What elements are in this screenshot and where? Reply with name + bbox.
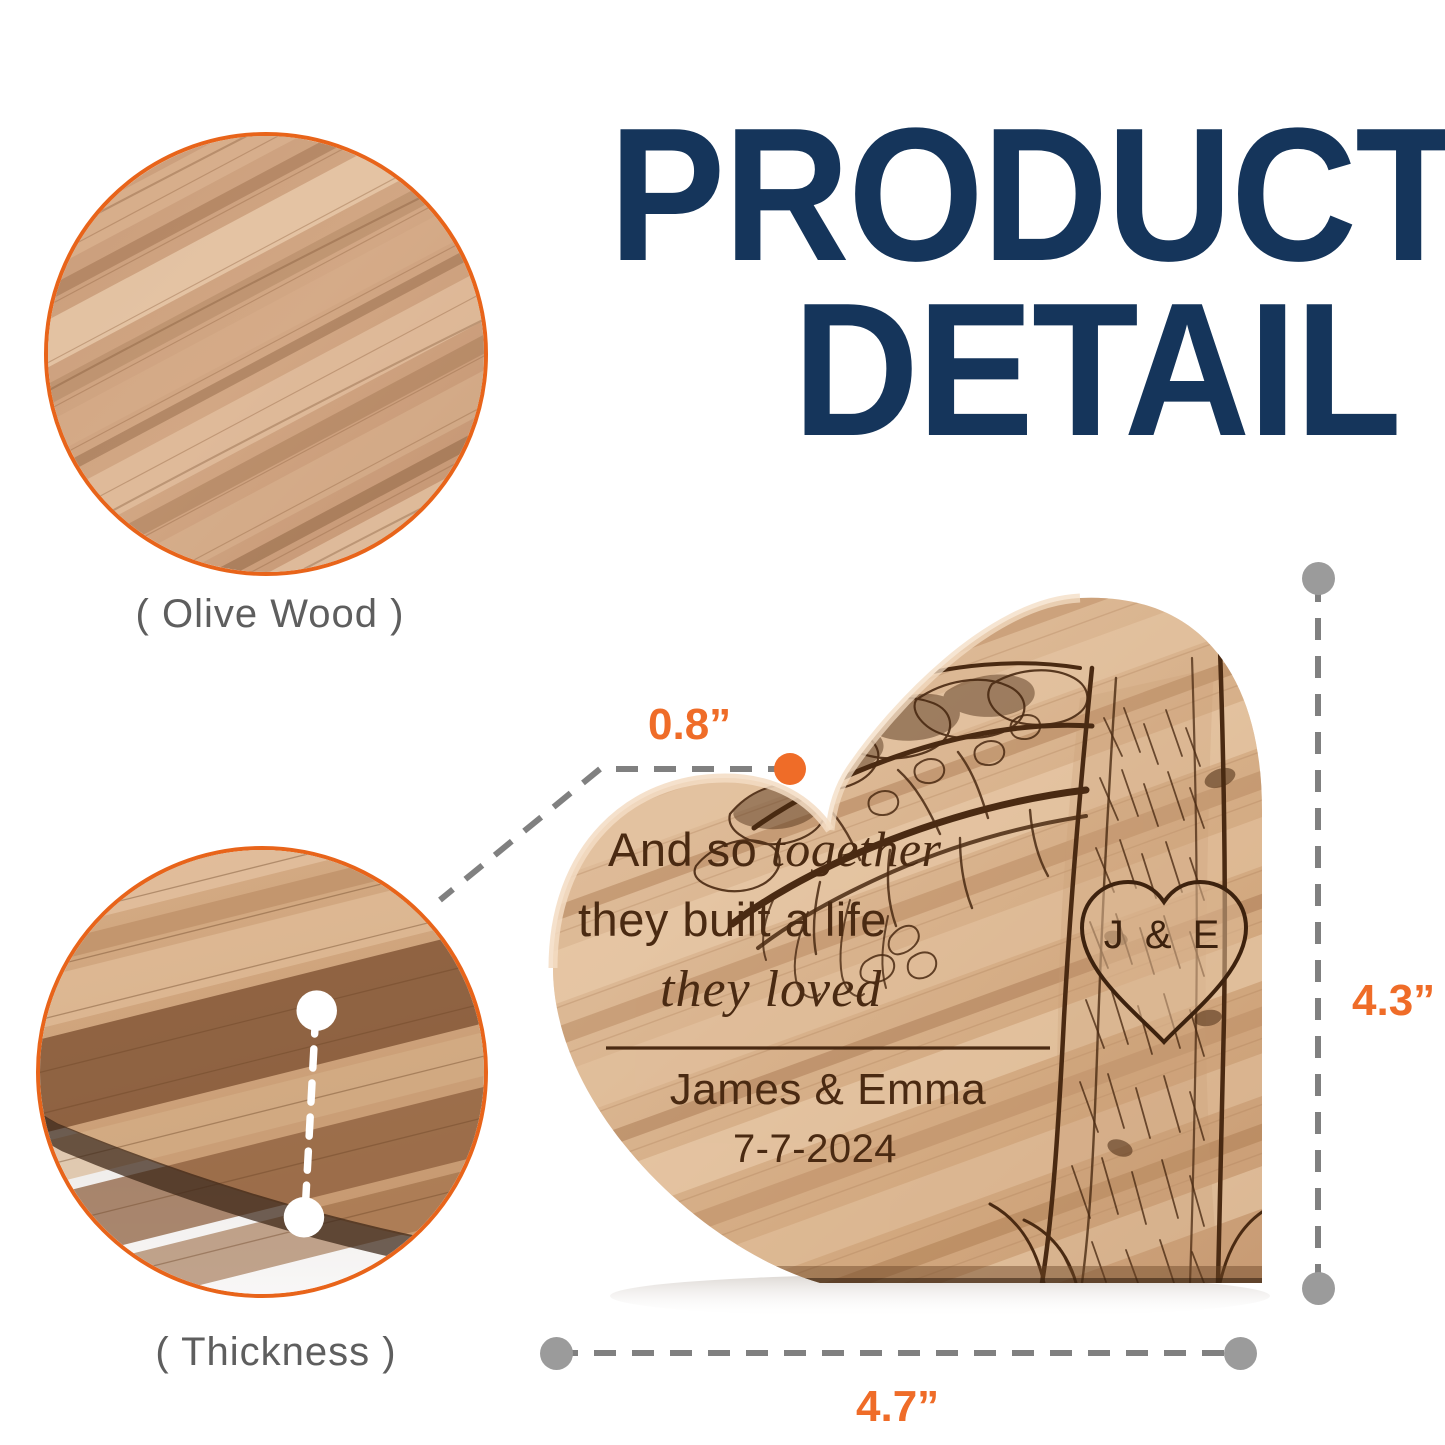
thickness-caption: ( Thickness ) [36, 1330, 516, 1375]
height-dimension-label: 4.3” [1352, 976, 1435, 1026]
wood-grain-icon [44, 132, 488, 576]
heart-plaque-illustration: J & E And so together they built a life … [520, 548, 1320, 1338]
quote-line-3: they loved [660, 961, 882, 1018]
width-endpoint-dot-right [1224, 1337, 1257, 1370]
tree-heart-initials-text: J & E [1104, 913, 1225, 957]
thickness-endpoint-dot [774, 753, 806, 785]
quote-line-1: And so together [608, 821, 942, 877]
thickness-swatch [36, 846, 488, 1298]
infographic-canvas: PRODUCT DETAIL [0, 0, 1445, 1445]
quote-line-2: they built a life [578, 893, 887, 946]
title-line-product: PRODUCT [609, 112, 1400, 279]
title-line-detail: DETAIL [609, 287, 1400, 454]
olive-wood-caption: ( Olive Wood ) [30, 592, 510, 637]
page-title: PRODUCT DETAIL [540, 112, 1400, 454]
heart-plaque: J & E And so together they built a life … [520, 548, 1320, 1338]
height-endpoint-dot-top [1302, 562, 1335, 595]
width-dimension-label: 4.7” [856, 1382, 939, 1432]
olive-wood-swatch [44, 132, 488, 576]
wood-edge-icon [36, 846, 488, 1298]
width-endpoint-dot-left [540, 1337, 573, 1370]
height-endpoint-dot-bottom [1302, 1272, 1335, 1305]
thickness-dimension-label: 0.8” [648, 700, 731, 750]
couple-date: 7-7-2024 [733, 1127, 897, 1171]
couple-names: James & Emma [670, 1065, 987, 1114]
plaque-body: J & E And so together they built a life … [520, 548, 1320, 1338]
